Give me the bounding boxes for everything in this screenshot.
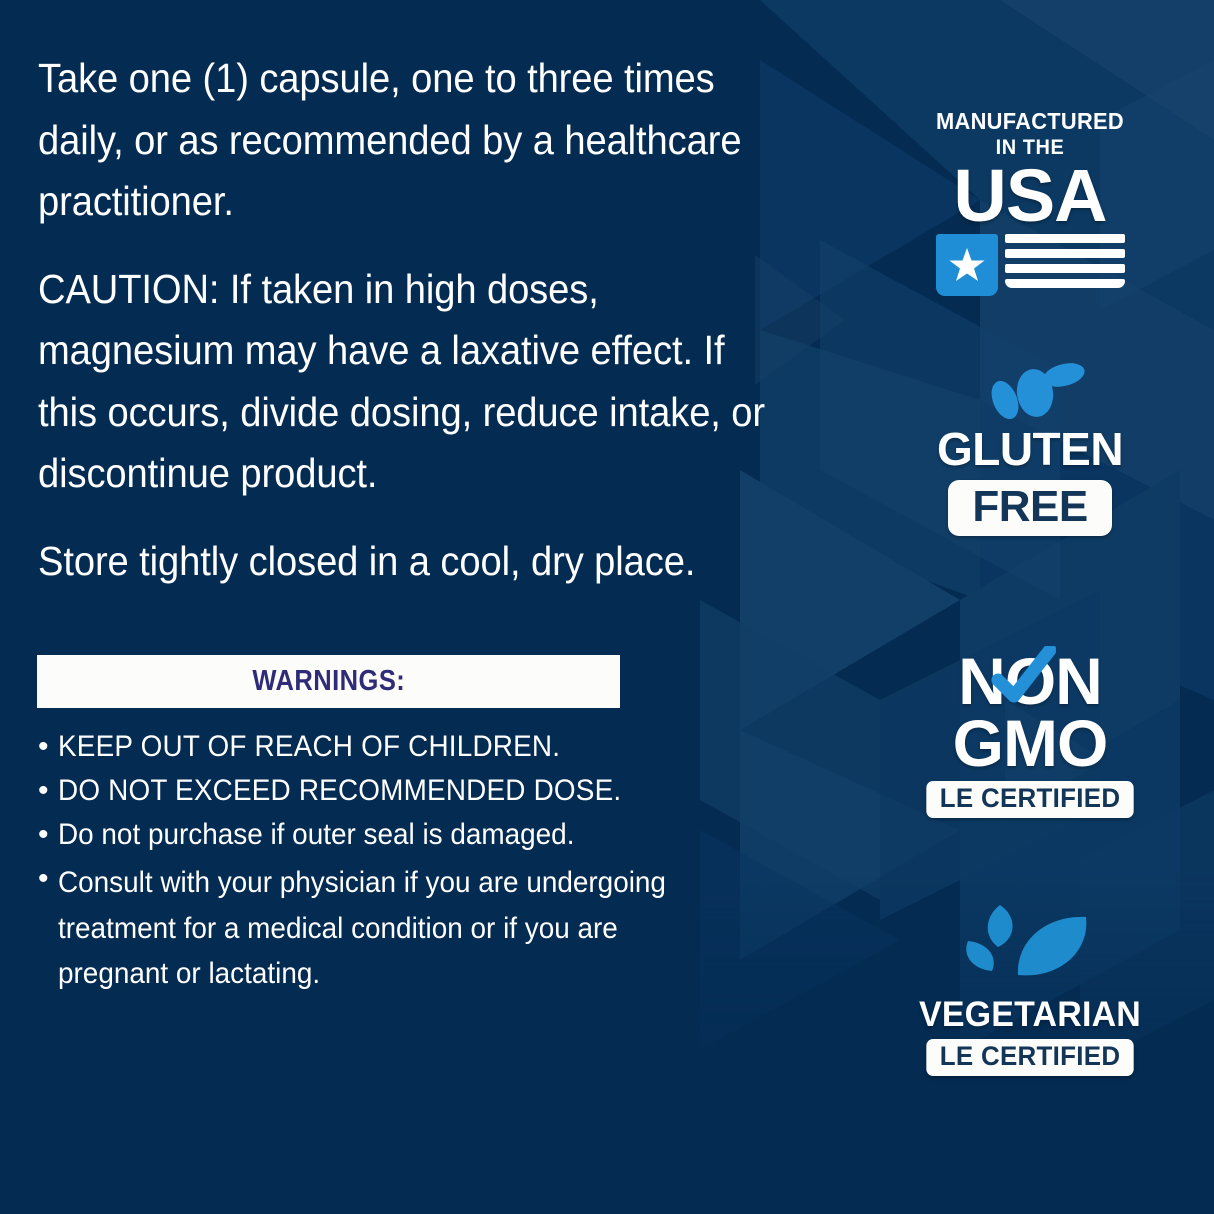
usa-badge-line2: IN THE: [907, 136, 1154, 160]
badge-manufactured-in-usa: MANUFACTURED IN THE USA: [900, 110, 1160, 296]
directions-paragraph-dosage: Take one (1) capsule, one to three times…: [38, 48, 787, 233]
non-gmo-line1: NON: [900, 650, 1160, 712]
warnings-list-item: • DO NOT EXCEED RECOMMENDED DOSE.: [38, 772, 738, 810]
directions-paragraph-caution: CAUTION: If taken in high doses, magnesi…: [38, 259, 787, 505]
non-gmo-line2: GMO: [900, 712, 1160, 774]
non-gmo-certification: LE CERTIFIED: [926, 781, 1133, 818]
bullet-icon: •: [38, 816, 58, 854]
certification-badge-column: MANUFACTURED IN THE USA: [900, 0, 1160, 1214]
gluten-free-line2: FREE: [948, 480, 1111, 536]
directions-paragraph-storage: Store tightly closed in a cool, dry plac…: [38, 531, 787, 593]
vegetarian-certification: LE CERTIFIED: [926, 1039, 1133, 1076]
gluten-free-line1: GLUTEN: [900, 426, 1160, 472]
badge-vegetarian: VEGETARIAN LE CERTIFIED: [900, 895, 1160, 1076]
usa-flag-icon: [900, 234, 1160, 296]
directions-text-block: Take one (1) capsule, one to three times…: [38, 48, 843, 592]
warnings-list-item: • Consult with your physician if you are…: [38, 860, 738, 997]
wheat-leaves-icon: [900, 360, 1160, 422]
bullet-icon: •: [38, 728, 58, 766]
badge-gluten-free: GLUTEN FREE: [900, 360, 1160, 536]
warnings-header-bar: WARNINGS:: [37, 655, 620, 708]
badge-non-gmo: NON GMO LE CERTIFIED: [900, 650, 1160, 818]
usa-badge-line1: MANUFACTURED: [907, 110, 1154, 133]
supplement-label-panel: Take one (1) capsule, one to three times…: [0, 0, 1214, 1214]
plant-leaves-icon: [900, 895, 1160, 991]
warnings-list-item-text: Consult with your physician if you are u…: [58, 860, 690, 997]
warnings-list-item: • Do not purchase if outer seal is damag…: [38, 816, 738, 854]
warnings-heading: WARNINGS:: [252, 665, 405, 698]
usa-badge-line3: USA: [900, 162, 1160, 230]
check-mark-icon: [984, 646, 1056, 710]
warnings-list: • KEEP OUT OF REACH OF CHILDREN. • DO NO…: [38, 728, 738, 997]
warnings-list-item-text: Do not purchase if outer seal is damaged…: [58, 816, 690, 854]
bullet-icon: •: [38, 860, 58, 997]
bullet-icon: •: [38, 772, 58, 810]
vegetarian-line1: VEGETARIAN: [904, 997, 1156, 1032]
warnings-list-item: • KEEP OUT OF REACH OF CHILDREN.: [38, 728, 738, 766]
warnings-list-item-text: DO NOT EXCEED RECOMMENDED DOSE.: [58, 772, 690, 810]
flag-canton: [936, 234, 998, 296]
flag-stripes: [1005, 234, 1125, 288]
warnings-list-item-text: KEEP OUT OF REACH OF CHILDREN.: [58, 728, 690, 766]
